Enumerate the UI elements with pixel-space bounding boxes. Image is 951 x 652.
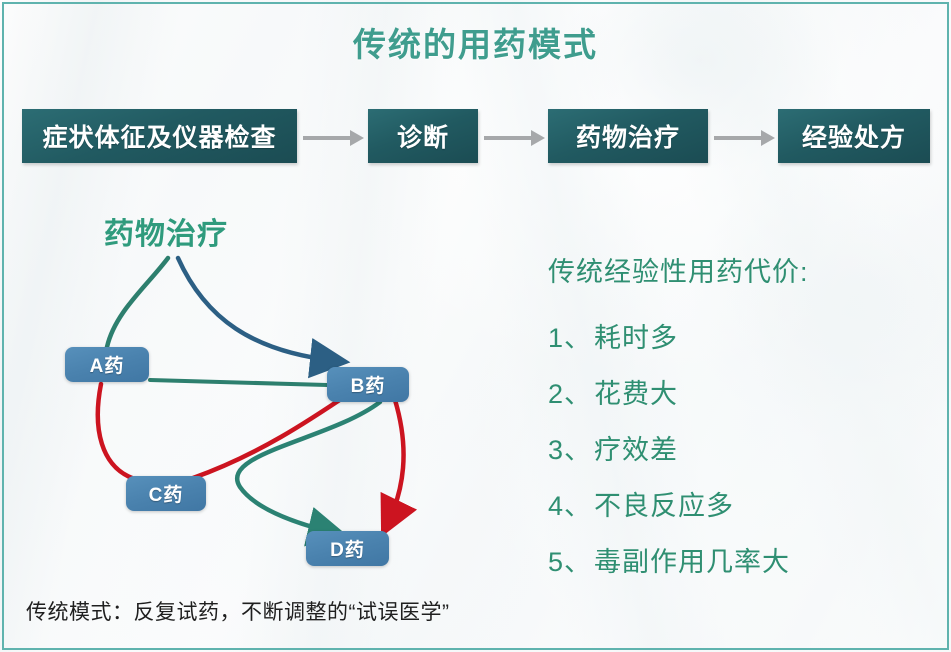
drug-node-b[interactable]: B药 (327, 367, 409, 402)
slide-canvas: 传统的用药模式 症状体征及仪器检查 诊断 药物治疗 经验处方 药物治疗 (0, 0, 951, 652)
costs-item-4-label: 不良反应多 (594, 491, 734, 521)
flow-step-3-label: 药物治疗 (576, 118, 680, 154)
flow-step-2[interactable]: 诊断 (368, 109, 478, 163)
costs-item-1-label: 耗时多 (594, 323, 678, 353)
footer-caption: 传统模式：反复试药，不断调整的“试误医学” (26, 596, 450, 626)
edge-stem-to-a (107, 258, 168, 347)
costs-item-4-number: 4、 (548, 491, 592, 521)
costs-item-3-number: 3、 (548, 435, 592, 465)
edge-b-to-d-green (237, 402, 380, 533)
edge-b-to-d-red (387, 400, 404, 525)
costs-title: 传统经验性用药代价: (548, 250, 809, 289)
drug-node-c-label: C药 (149, 480, 184, 507)
costs-item-1-number: 1、 (548, 323, 592, 353)
costs-item-2-number: 2、 (548, 379, 592, 409)
drug-node-a-label: A药 (90, 351, 125, 378)
costs-item-4: 4、不良反应多 (548, 478, 938, 534)
flow-step-4[interactable]: 经验处方 (778, 109, 930, 163)
costs-list: 1、耗时多 2、花费大 3、疗效差 4、不良反应多 5、毒副作用几率大 (548, 310, 938, 590)
flow-step-3[interactable]: 药物治疗 (548, 109, 708, 163)
flow-step-1[interactable]: 症状体征及仪器检查 (22, 109, 297, 163)
edge-stem-to-b (178, 258, 337, 361)
costs-item-3-label: 疗效差 (594, 435, 678, 465)
drug-node-a[interactable]: A药 (65, 347, 149, 382)
flow-arrow-1 (303, 136, 351, 140)
flow-arrow-2 (484, 136, 532, 140)
flow-step-4-label: 经验处方 (802, 118, 906, 154)
costs-item-5-label: 毒副作用几率大 (594, 547, 790, 577)
drug-node-b-label: B药 (351, 371, 386, 398)
drug-node-d-label: D药 (330, 535, 365, 562)
costs-item-5-number: 5、 (548, 547, 592, 577)
drug-map-heading: 药物治疗 (104, 209, 228, 253)
costs-item-2-label: 花费大 (594, 379, 678, 409)
costs-item-5: 5、毒副作用几率大 (548, 534, 938, 590)
drug-node-c[interactable]: C药 (126, 476, 206, 511)
edge-a-to-b (150, 380, 327, 385)
costs-item-2: 2、花费大 (548, 366, 938, 422)
flow-step-2-label: 诊断 (397, 118, 449, 154)
edge-a-to-c (98, 384, 132, 478)
flow-arrow-3 (714, 136, 762, 140)
page-title: 传统的用药模式 (0, 18, 951, 66)
flow-step-1-label: 症状体征及仪器检查 (42, 118, 276, 154)
edge-c-to-b (193, 393, 350, 478)
drug-node-d[interactable]: D药 (306, 531, 389, 566)
costs-item-3: 3、疗效差 (548, 422, 938, 478)
costs-item-1: 1、耗时多 (548, 310, 938, 366)
